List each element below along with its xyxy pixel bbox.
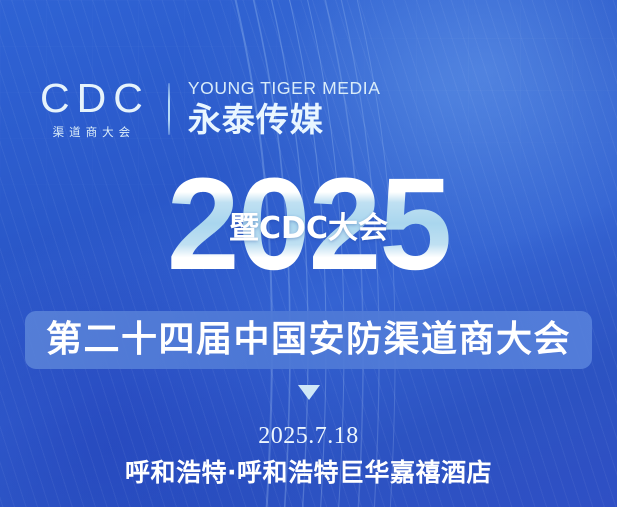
media-english-name: YOUNG TIGER MEDIA [188,80,381,98]
media-chinese-name: 永泰传媒 [188,103,324,138]
conference-poster: CDC 渠道商大会 YOUNG TIGER MEDIA 永泰传媒 2025 暨C… [0,0,617,507]
brand-logo-row: CDC 渠道商大会 YOUNG TIGER MEDIA 永泰传媒 [33,78,381,140]
hero-overlay-text: 暨CDC大会 [0,203,617,247]
event-details: 2025.7.18 呼和浩特·呼和浩特巨华嘉禧酒店 [0,421,617,488]
cdc-logo: CDC 渠道商大会 [33,78,150,140]
conference-title: 第二十四届中国安防渠道商大会 [46,322,571,358]
logo-divider [168,83,170,135]
cdc-subtitle: 渠道商大会 [48,124,136,140]
young-tiger-media-logo: YOUNG TIGER MEDIA 永泰传媒 [188,80,381,137]
conference-title-banner: 第二十四届中国安防渠道商大会 [25,311,592,369]
triangle-down-icon [298,385,320,400]
event-venue: 呼和浩特·呼和浩特巨华嘉禧酒店 [0,458,617,488]
event-date: 2025.7.18 [0,421,617,451]
cdc-acronym: CDC [33,78,150,119]
